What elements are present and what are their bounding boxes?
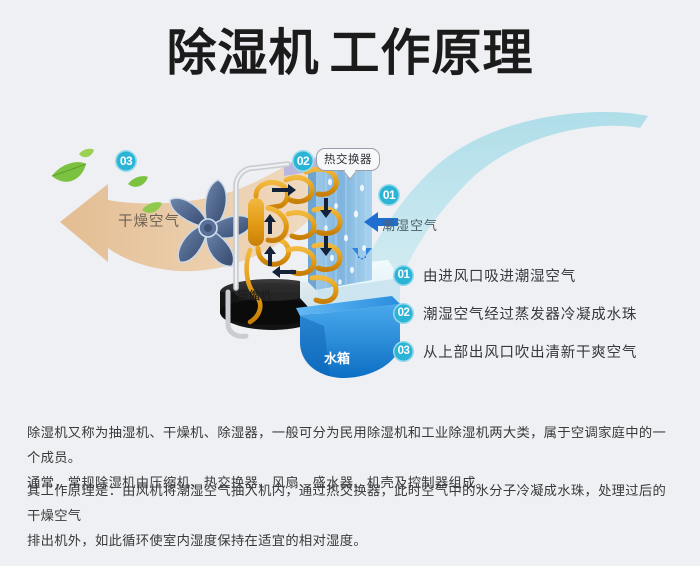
badge-03: 03 <box>115 150 137 172</box>
badge-01: 01 <box>378 184 400 206</box>
paragraph-2-line-1: 其工作原理是：由风机将潮湿空气抽入机内，通过热交换器，此时空气中的水分子冷凝成水… <box>27 478 677 528</box>
dry-air-label: 干燥空气 <box>118 210 180 231</box>
page-title: 除湿机工作原理 <box>0 28 700 78</box>
compressor-label: 压缩机 <box>238 287 271 303</box>
paragraph-1-line-1: 除湿机又称为抽湿机、干燥机、除湿器，一般可分为民用除湿机和工业除湿机两大类，属于… <box>27 420 677 470</box>
legend-badge-02: 02 <box>393 303 414 324</box>
legend-item-03: 03 从上部出风口吹出清新干爽空气 <box>393 332 693 370</box>
description-paragraph-2: 其工作原理是：由风机将潮湿空气抽入机内，通过热交换器，此时空气中的水分子冷凝成水… <box>27 478 677 553</box>
title-part-one: 除湿机 <box>167 25 320 81</box>
humid-air-label: 潮湿空气 <box>382 215 438 234</box>
legend-text-01: 由进风口吸进潮湿空气 <box>423 265 576 286</box>
legend-item-02: 02 潮湿空气经过蒸发器冷凝成水珠 <box>393 294 693 332</box>
legend-list: 01 由进风口吸进潮湿空气 02 潮湿空气经过蒸发器冷凝成水珠 03 从上部出风… <box>393 256 693 370</box>
legend-badge-03: 03 <box>393 341 414 362</box>
legend-item-01: 01 由进风口吸进潮湿空气 <box>393 256 693 294</box>
heat-exchanger-callout: 热交换器 <box>316 148 380 171</box>
legend-text-03: 从上部出风口吹出清新干爽空气 <box>423 341 637 362</box>
legend-text-02: 潮湿空气经过蒸发器冷凝成水珠 <box>423 303 637 324</box>
title-part-two: 工作原理 <box>330 25 534 81</box>
paragraph-2-line-2: 排出机外，如此循环使室内湿度保持在适宜的相对湿度。 <box>27 528 677 553</box>
water-tank-label: 水箱 <box>324 348 350 367</box>
badge-02: 02 <box>292 150 314 172</box>
legend-badge-01: 01 <box>393 265 414 286</box>
